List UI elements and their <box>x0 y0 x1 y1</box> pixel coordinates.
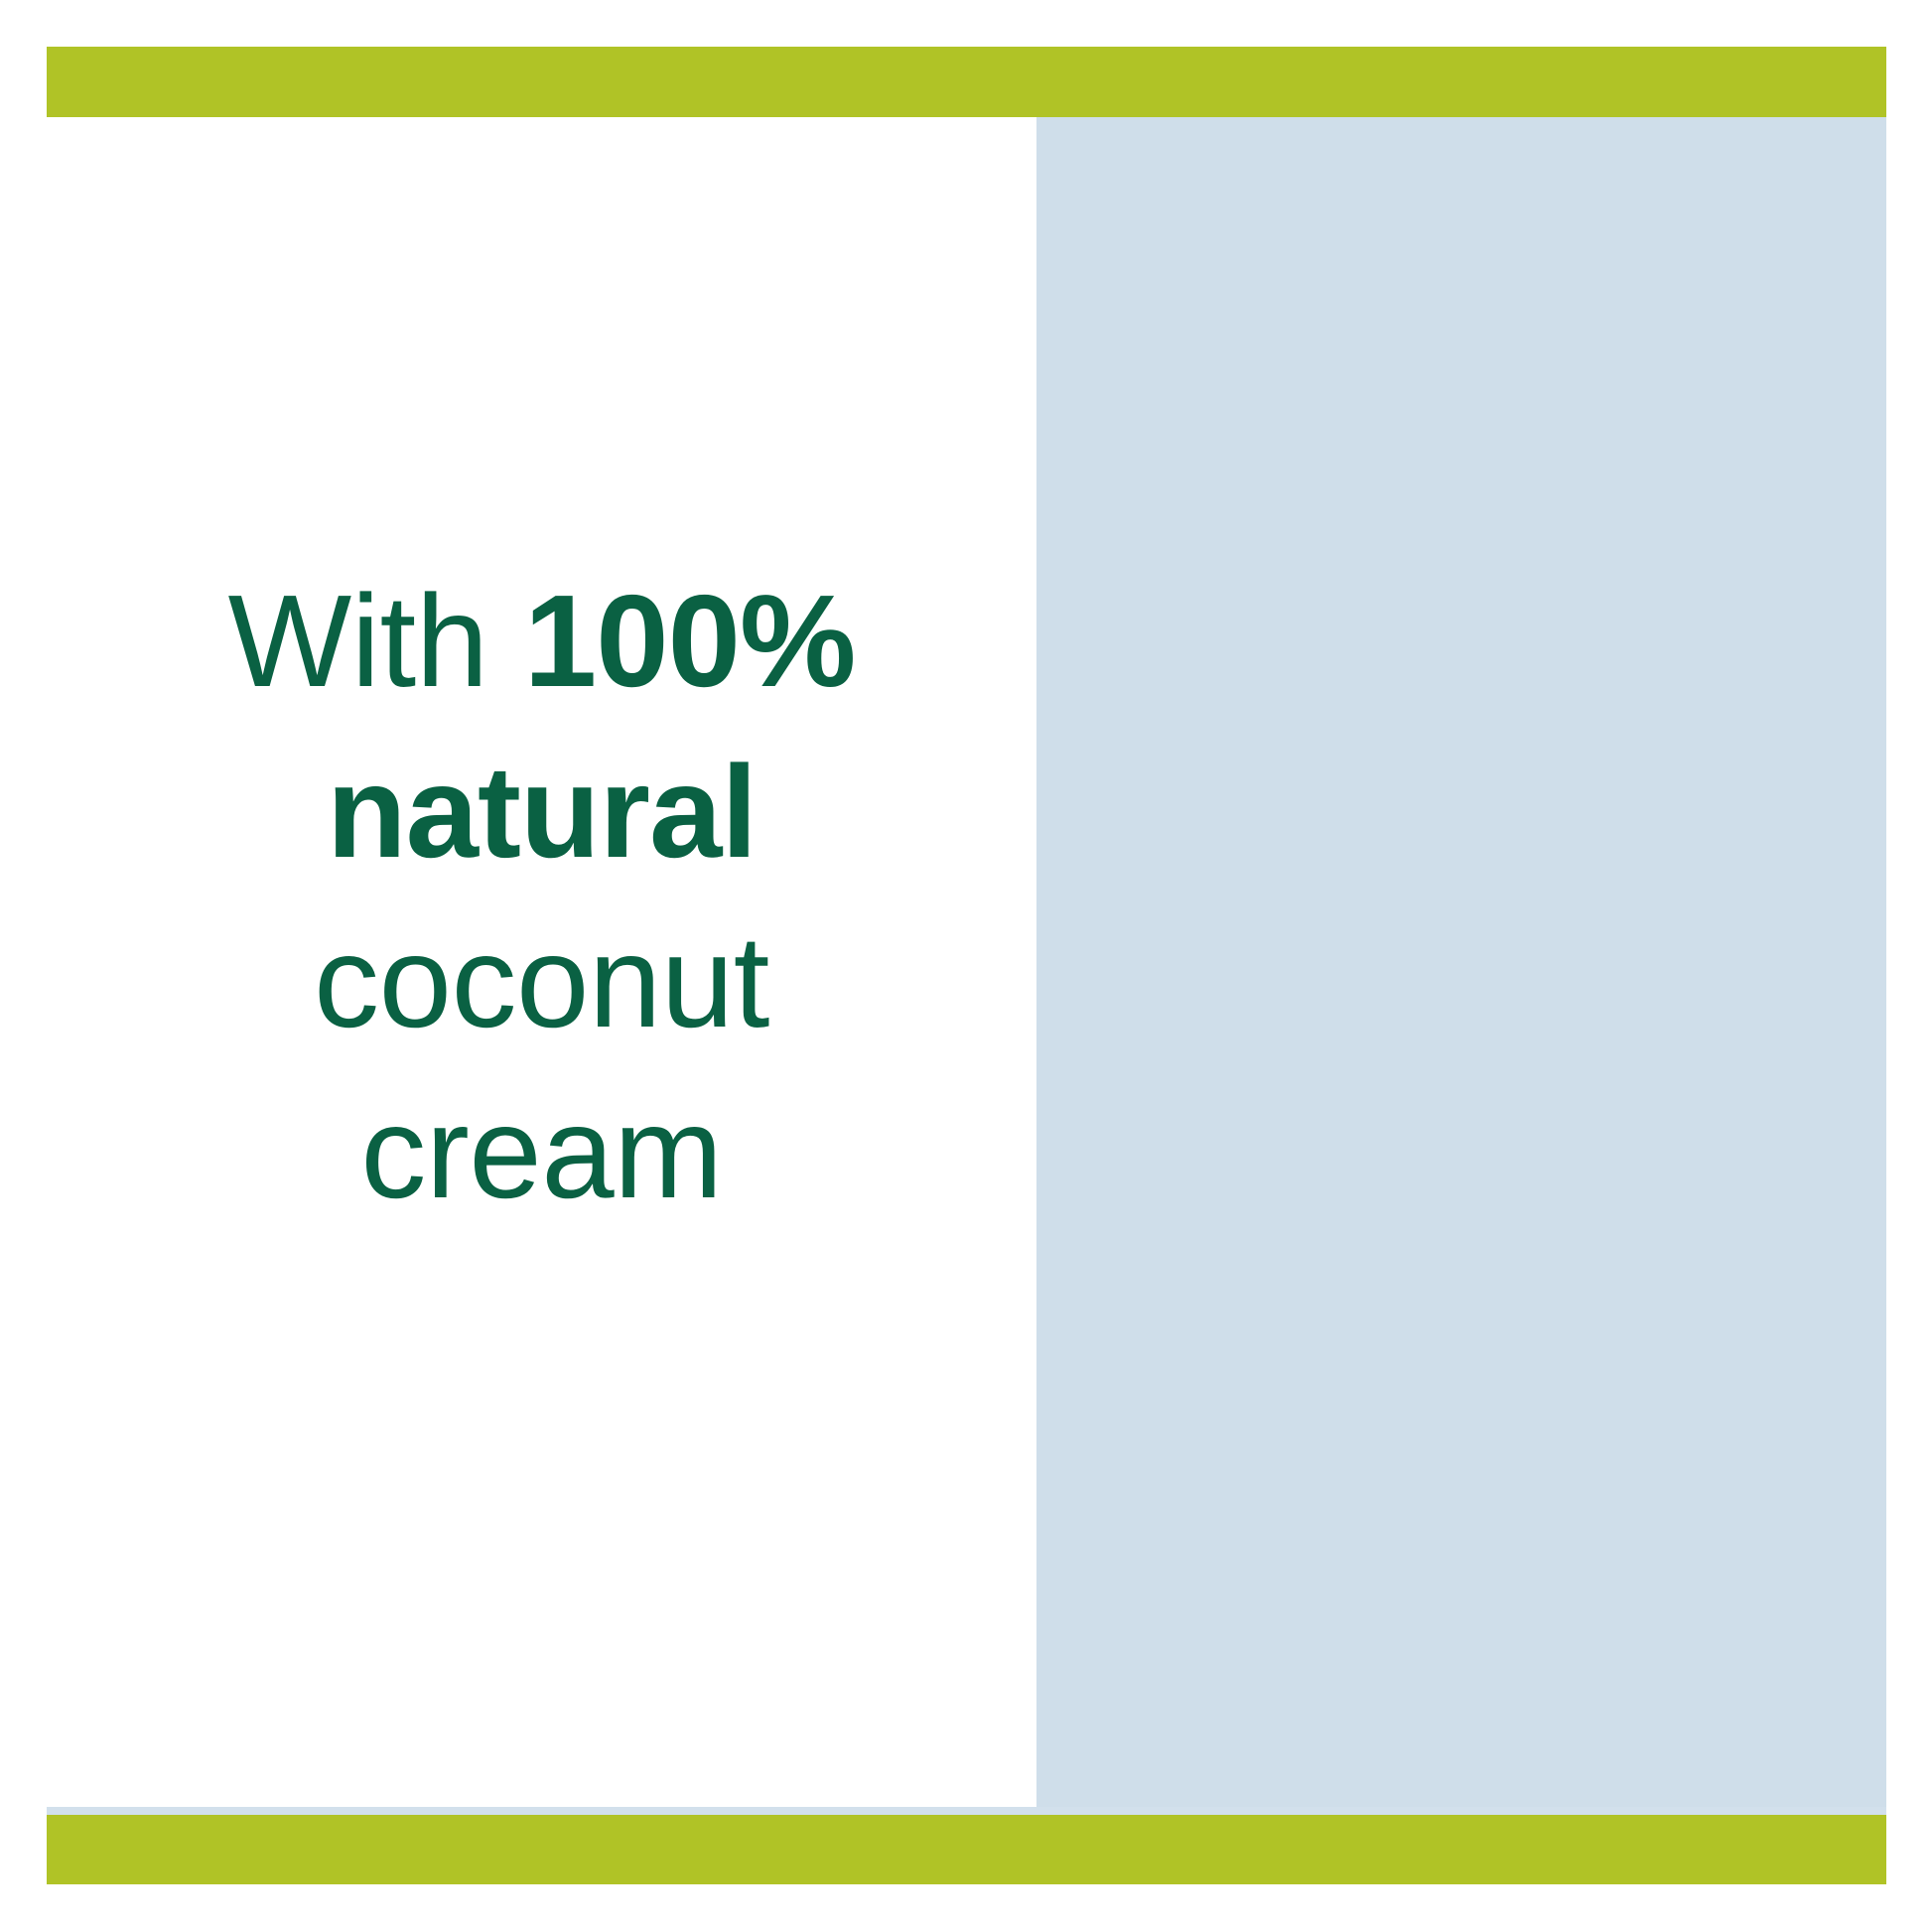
bottom-accent-bar <box>47 1815 1886 1884</box>
headline-line-2: natural <box>47 727 1036 897</box>
top-accent-bar <box>47 47 1886 117</box>
headline-line-1: With 100% <box>47 556 1036 727</box>
headline-line-1-prefix: With <box>228 568 524 714</box>
panel-bottom-seam <box>47 1807 1886 1815</box>
image-panel-background <box>1036 117 1886 1815</box>
headline-block: With 100% natural coconut cream <box>47 556 1036 1237</box>
headline-line-1-strong: 100% <box>524 568 856 714</box>
headline-line-4: cream <box>47 1067 1036 1238</box>
headline-line-3: coconut <box>47 897 1036 1067</box>
product-claim-banner: With 100% natural coconut cream <box>0 0 1932 1932</box>
